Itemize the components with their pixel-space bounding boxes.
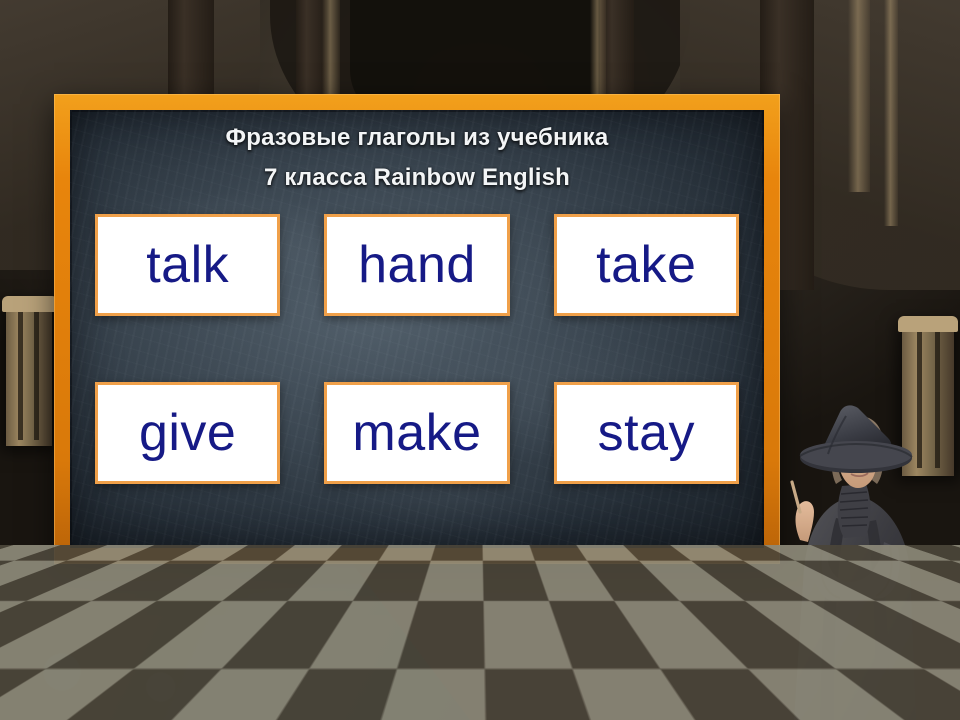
hall-drape-4	[884, 0, 898, 226]
word-card-talk[interactable]: talk	[95, 214, 280, 316]
hall-drape-3	[848, 0, 870, 192]
word-card-label: hand	[358, 239, 476, 291]
hall-pillar-left-stripe-a	[18, 312, 23, 440]
witch-hat-icon	[800, 405, 912, 473]
witch-wand-hand	[792, 482, 814, 542]
title-line-2: 7 класса Rainbow English	[70, 158, 764, 198]
word-card-label: make	[352, 407, 481, 459]
slide-canvas: Фразовые глаголы из учебника 7 класса Ra…	[0, 0, 960, 720]
chalkboard-frame: Фразовые глаголы из учебника 7 класса Ra…	[54, 94, 780, 564]
word-card-label: stay	[598, 407, 695, 459]
word-card-hand[interactable]: hand	[324, 214, 509, 316]
word-card-label: talk	[146, 239, 229, 291]
word-card-label: give	[139, 407, 236, 459]
word-card-give[interactable]: give	[95, 382, 280, 484]
word-card-make[interactable]: make	[324, 382, 509, 484]
floor-teal-accent	[10, 612, 270, 712]
title-line-1: Фразовые глаголы из учебника	[70, 118, 764, 158]
word-card-stay[interactable]: stay	[554, 382, 739, 484]
slide-title: Фразовые глаголы из учебника 7 класса Ra…	[70, 110, 764, 198]
hall-pillar-left-cap	[2, 296, 58, 312]
word-card-take[interactable]: take	[554, 214, 739, 316]
word-card-label: take	[596, 239, 696, 291]
hall-pillar-left	[6, 306, 52, 446]
hall-pillar-left-stripe-b	[34, 312, 39, 440]
wand	[792, 482, 800, 512]
chalkboard-surface: Фразовые глаголы из учебника 7 класса Ra…	[70, 110, 764, 548]
witch-figure	[764, 400, 944, 720]
word-card-grid: talk hand take give make stay	[95, 214, 739, 484]
hall-pillar-right-cap	[898, 316, 958, 332]
